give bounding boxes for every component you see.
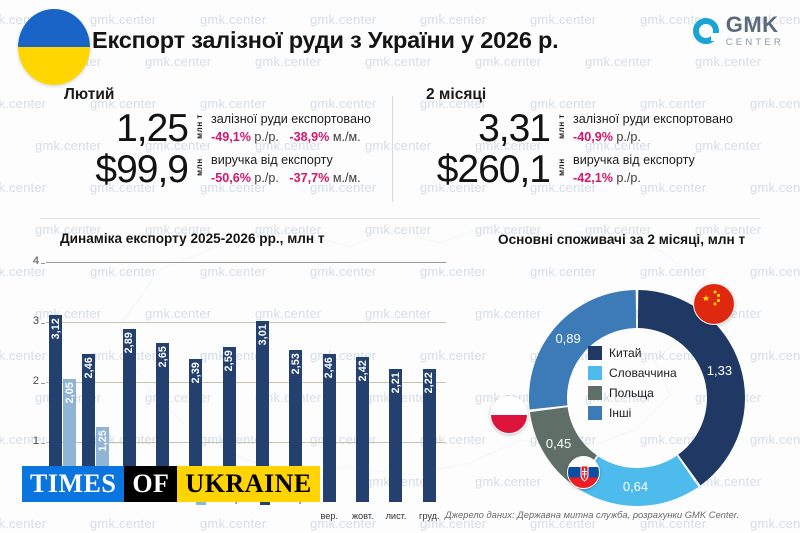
kpi-deltas: -49,1% р./р. -38,9% м./м. xyxy=(211,129,371,145)
kpi-delta-pct: -42,1% xyxy=(573,171,613,185)
kpi-label: залізної руди експортовано xyxy=(573,112,733,128)
gmk-ring-icon xyxy=(693,18,719,44)
kpi-label: виручка від експорту xyxy=(573,153,695,169)
kpi-value: 1,25 xyxy=(38,111,188,147)
gmk-logo: GMK CENTER xyxy=(693,14,784,48)
kpi-delta-basis: р./р. xyxy=(254,171,279,185)
stamp-part-ukraine: UKRAINE xyxy=(177,466,319,502)
kpi-value: $99,9 xyxy=(38,152,188,188)
kpi-section: Лютий 1,25 млн т залізної руди експортов… xyxy=(0,86,800,220)
legend-swatch-icon xyxy=(588,386,602,400)
bar-value-label: 3,12 xyxy=(50,318,62,339)
kpi-deltas: -50,6% р./р. -37,7% м./м. xyxy=(211,170,361,186)
x-axis-tick: вер. xyxy=(321,511,339,521)
kpi-label: виручка від експорту xyxy=(211,153,361,169)
kpi-unit: млн xyxy=(194,151,204,184)
donut-legend-item: Польща xyxy=(588,386,677,400)
bar-group: 2,42жовт. xyxy=(346,357,379,502)
bar: 2,22 xyxy=(423,369,436,502)
page-title: Експорт залізної руди з України у 2026 р… xyxy=(92,27,559,54)
gmk-logo-sub: CENTER xyxy=(726,38,784,48)
kpi-value: 3,31 xyxy=(400,111,550,147)
bar-value-label: 2,46 xyxy=(83,357,95,378)
bar: 2,46 xyxy=(323,354,336,502)
bar: 2,42 xyxy=(356,357,369,502)
kpi-delta-pct: -37,7% xyxy=(289,171,329,185)
donut-legend-item: Словаччина xyxy=(588,366,677,380)
kpi-deltas: -42,1% р./р. xyxy=(573,170,695,186)
y-axis-tick: 3 xyxy=(33,315,39,327)
bar-value-label: 2,05 xyxy=(64,382,76,403)
kpi-delta-basis: р./р. xyxy=(616,171,641,185)
bar-value-label: 2,39 xyxy=(190,362,202,383)
bar-value-label: 2,22 xyxy=(423,372,435,393)
donut-legend-item: Інші xyxy=(588,406,677,420)
legend-swatch-icon xyxy=(588,406,602,420)
kpi-label: залізної руди експортовано xyxy=(211,112,371,128)
kpi-row-revenue: $99,9 млн виручка від експорту -50,6% р.… xyxy=(38,151,418,188)
chart-title: Динаміка експорту 2025-2026 рр., млн т xyxy=(60,231,325,246)
kpi-delta-pct: -40,9% xyxy=(573,130,613,144)
legend-label: Інші xyxy=(609,406,631,420)
bar-group: 2,21лист. xyxy=(379,369,412,502)
donut-legend: КитайСловаччинаПольщаІнші xyxy=(588,346,677,426)
stamp-part-times: TIMES xyxy=(22,466,124,502)
bar-value-label: 2,42 xyxy=(357,360,369,381)
bar: 2,21 xyxy=(389,369,402,502)
x-axis-tick: лист. xyxy=(386,511,407,521)
kpi-delta-basis: м./м. xyxy=(333,130,361,144)
kpi-unit: млн т xyxy=(556,110,566,143)
y-axis-tick: 4 xyxy=(33,255,39,267)
ukraine-flag-icon xyxy=(18,9,90,85)
legend-label: Китай xyxy=(609,346,641,360)
bar-value-label: 2,46 xyxy=(323,357,335,378)
kpi-row-volume: 1,25 млн т залізної руди експортовано -4… xyxy=(38,110,418,147)
kpi-delta-basis: р./р. xyxy=(254,130,279,144)
kpi-delta-pct: -50,6% xyxy=(211,171,251,185)
x-axis-tick: жовт. xyxy=(352,511,374,521)
infographic-page: gmk.centergmk.centergmk.centergmk.center… xyxy=(0,0,800,533)
legend-label: Польща xyxy=(609,386,654,400)
kpi-delta-pct: -49,1% xyxy=(211,130,251,144)
kpi-value: $260,1 xyxy=(400,152,550,188)
chart-title: Основні споживачі за 2 місяці, млн т xyxy=(498,231,748,249)
donut-value-label: 0,89 xyxy=(555,331,580,346)
kpi-delta-basis: р./р. xyxy=(616,130,641,144)
kpi-row-revenue: $260,1 млн виручка від експорту -42,1% р… xyxy=(400,151,780,188)
x-axis-tick: груд. xyxy=(419,511,440,521)
china-flag-icon xyxy=(693,283,735,325)
main-consumers-chart: Основні споживачі за 2 місяці, млн т Кит… xyxy=(480,228,800,528)
kpi-deltas: -40,9% р./р. xyxy=(573,129,733,145)
donut-value-label: 0,64 xyxy=(623,479,648,494)
bar-group: 2,22груд. xyxy=(413,369,446,502)
y-axis-tick: 2 xyxy=(33,375,39,387)
kpi-period-label: 2 місяці xyxy=(426,86,780,104)
legend-swatch-icon xyxy=(588,366,602,380)
gmk-logo-name: GMK xyxy=(726,14,784,36)
header: Експорт залізної руди з України у 2026 р… xyxy=(0,0,800,86)
bar-value-label: 2,65 xyxy=(157,346,169,367)
legend-label: Словаччина xyxy=(609,366,677,380)
bar-value-label: 2,59 xyxy=(223,350,235,371)
kpi-block-twomonths: 2 місяці 3,31 млн т залізної руди експор… xyxy=(400,86,780,188)
donut-value-label: 1,33 xyxy=(707,363,732,378)
kpi-delta-pct: -38,9% xyxy=(289,130,329,144)
source-note: Джерело даних: Державна митна служба, ро… xyxy=(445,509,739,520)
kpi-block-month: Лютий 1,25 млн т залізної руди експортов… xyxy=(38,86,418,188)
kpi-row-volume: 3,31 млн т залізної руди експортовано -4… xyxy=(400,110,780,147)
legend-swatch-icon xyxy=(588,346,602,360)
stamp-part-of: OF xyxy=(124,466,177,502)
slovakia-flag-icon xyxy=(567,456,600,489)
bar-value-label: 2,53 xyxy=(290,353,302,374)
bar-value-label: 2,89 xyxy=(123,332,135,353)
kpi-unit: млн т xyxy=(194,110,204,143)
times-of-ukraine-stamp: TIMES OF UKRAINE xyxy=(22,466,320,502)
donut-legend-item: Китай xyxy=(588,346,677,360)
bar-value-label: 3,01 xyxy=(257,324,269,345)
kpi-delta-basis: м./м. xyxy=(333,171,361,185)
kpi-unit: млн xyxy=(556,151,566,184)
kpi-period-label: Лютий xyxy=(64,86,418,104)
donut-value-label: 0,45 xyxy=(546,436,571,451)
y-axis-tick: 1 xyxy=(33,435,39,447)
poland-flag-icon xyxy=(490,396,528,434)
bar-value-label: 1,25 xyxy=(97,430,109,451)
bar-value-label: 2,21 xyxy=(390,372,402,393)
